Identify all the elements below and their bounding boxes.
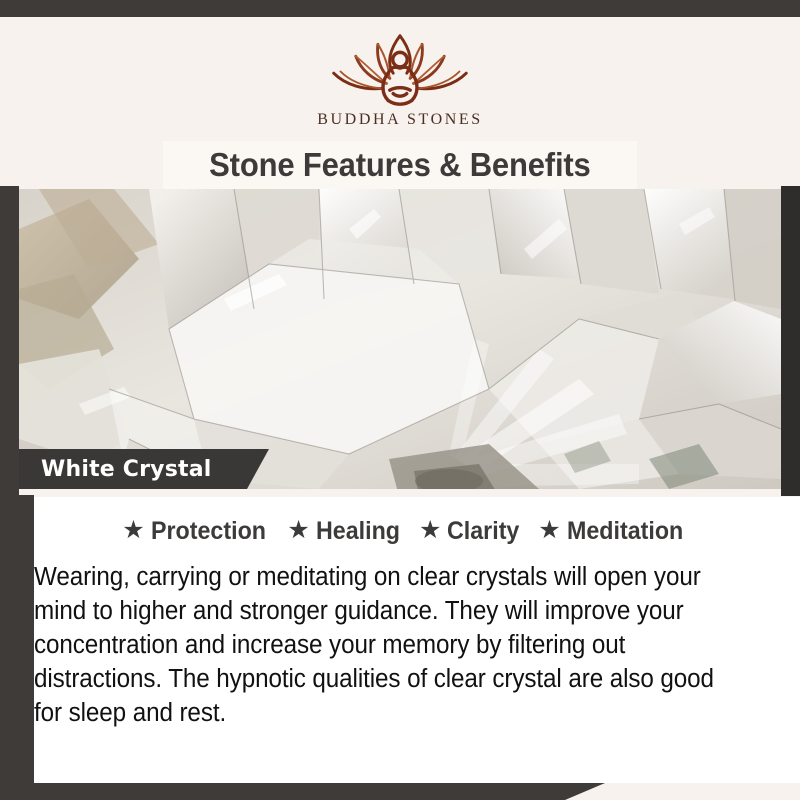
star-icon: ★ xyxy=(122,518,144,543)
page-title: Stone Features & Benefits xyxy=(209,146,590,184)
benefit-item: ★ Healing xyxy=(287,517,406,546)
benefits-row: ★ Protection ★ Healing ★ Clarity ★ Medit… xyxy=(26,517,788,546)
benefit-label-healing: Healing xyxy=(316,517,400,546)
frame-rail-left xyxy=(0,186,19,516)
star-icon: ★ xyxy=(419,518,441,543)
frame-bar-top xyxy=(0,0,800,17)
frame-rail-right xyxy=(781,186,800,496)
title-banner: Stone Features & Benefits xyxy=(163,141,637,189)
benefit-item: ★ Meditation xyxy=(538,517,691,546)
benefit-item: ★ Clarity xyxy=(419,517,525,546)
stone-description: Wearing, carrying or meditating on clear… xyxy=(34,560,750,730)
content-panel: ★ Protection ★ Healing ★ Clarity ★ Medit… xyxy=(34,497,800,783)
star-icon: ★ xyxy=(287,518,309,543)
star-icon: ★ xyxy=(538,518,560,543)
photo-caption-bar: White Crystal xyxy=(19,449,269,489)
stone-name-label: White Crystal xyxy=(19,457,212,482)
benefit-label-clarity: Clarity xyxy=(447,517,519,546)
brand-wordmark: BUDDHA STONES xyxy=(317,111,483,129)
benefit-item: ★ Protection xyxy=(122,517,274,546)
infographic-canvas: BUDDHA STONES Stone Features & Benefits xyxy=(0,0,800,800)
lotus-meditation-icon xyxy=(315,29,485,107)
brand-header: BUDDHA STONES xyxy=(0,17,800,140)
benefit-label-protection: Protection xyxy=(151,517,266,546)
benefit-label-meditation: Meditation xyxy=(567,517,683,546)
